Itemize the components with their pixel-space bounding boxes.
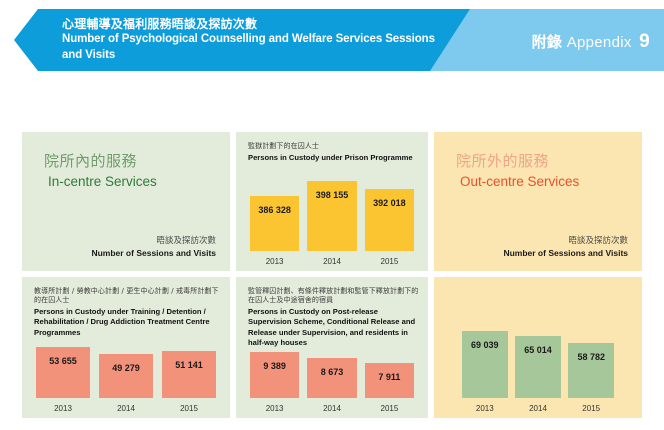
bar-2014: 8 673 xyxy=(307,358,356,398)
bar-column: 9 389 xyxy=(250,347,299,398)
in-centre-subtitle: 晤談及探訪次數 Number of Sessions and Visits xyxy=(91,236,216,259)
prison-programme-bar-chart: 386 328 398 155 392 018 2013 2014 2015 xyxy=(236,132,428,271)
panel-out-centre-services: 院所外的服務 Out-centre Services 晤談及探訪次數 Numbe… xyxy=(434,132,642,271)
x-axis-label-2015: 2015 xyxy=(365,404,414,413)
bar-value-2014: 398 155 xyxy=(316,190,349,200)
appendix-label: 附錄 Appendix 9 xyxy=(532,31,650,53)
panel-in-centre-services: 院所內的服務 In-centre Services 晤談及探訪次數 Number… xyxy=(22,132,230,271)
bar-value-2015: 58 782 xyxy=(577,352,605,362)
bar-2013: 9 389 xyxy=(250,352,299,398)
x-axis-label-2013: 2013 xyxy=(36,404,90,413)
in-centre-heading: 院所內的服務 In-centre Services xyxy=(44,152,157,191)
x-axis-label-2013: 2013 xyxy=(250,257,299,266)
bar-column: 398 155 xyxy=(307,174,356,251)
bar-value-2013: 9 389 xyxy=(263,361,286,371)
bar-2013: 386 328 xyxy=(250,196,299,251)
out-centre-subtitle: 晤談及探訪次數 Number of Sessions and Visits xyxy=(503,236,628,259)
out-centre-title-en: Out-centre Services xyxy=(460,174,579,191)
appendix-label-zh: 附錄 xyxy=(532,33,563,51)
appendix-number: 9 xyxy=(639,31,650,52)
bar-column: 392 018 xyxy=(365,174,414,251)
bar-value-2013: 53 655 xyxy=(49,356,77,366)
panel-post-release-supervision-chart: 監管釋囚計劃、有條件釋放計劃和監管下釋放計劃下的在囚人士及中途宿舍的宿員 Per… xyxy=(236,277,428,418)
bar-2015: 7 911 xyxy=(365,363,414,398)
bar-value-2015: 392 018 xyxy=(373,198,406,208)
page-title-zh: 心理輔導及福利服務晤談及探訪次數 xyxy=(62,17,482,31)
bar-column: 7 911 xyxy=(365,347,414,398)
bar-2015: 58 782 xyxy=(568,343,614,398)
in-centre-subtitle-en: Number of Sessions and Visits xyxy=(91,248,216,259)
bar-2015: 392 018 xyxy=(365,189,414,251)
bar-column: 386 328 xyxy=(250,174,299,251)
x-axis-label-2015: 2015 xyxy=(162,404,216,413)
appendix-content-grid: 院所內的服務 In-centre Services 晤談及探訪次數 Number… xyxy=(22,132,642,418)
x-axis-label-2015: 2015 xyxy=(568,404,614,413)
in-centre-title-en: In-centre Services xyxy=(48,174,157,191)
panel-training-detention-chart: 教導所計劃 / 勞教中心計劃 / 更生中心計劃 / 戒毒所計劃下的在囚人士 Pe… xyxy=(22,277,230,418)
bar-2014: 49 279 xyxy=(99,354,153,398)
bar-2015: 51 141 xyxy=(162,351,216,398)
appendix-label-en: Appendix xyxy=(567,34,632,51)
x-axis-label-2015: 2015 xyxy=(365,257,414,266)
bar-value-2014: 65 014 xyxy=(524,345,552,355)
x-axis-label-2013: 2013 xyxy=(250,404,299,413)
bar-value-2015: 51 141 xyxy=(175,360,203,370)
x-axis-label-2014: 2014 xyxy=(99,404,153,413)
bar-column: 58 782 xyxy=(568,325,614,398)
out-centre-title-zh: 院所外的服務 xyxy=(456,152,579,171)
page-title: 心理輔導及福利服務晤談及探訪次數 Number of Psychological… xyxy=(62,17,482,62)
out-centre-bar-chart: 69 039 65 014 58 782 2013 2014 2015 xyxy=(434,277,642,418)
bar-value-2013: 69 039 xyxy=(471,340,499,350)
panel-prison-programme-chart: 監獄計劃下的在囚人士 Persons in Custody under Pris… xyxy=(236,132,428,271)
page-title-en-line1: Number of Psychological Counselling and … xyxy=(62,33,482,47)
page-header: 心理輔導及福利服務晤談及探訪次數 Number of Psychological… xyxy=(0,9,664,71)
x-axis-label-2014: 2014 xyxy=(307,404,356,413)
in-centre-subtitle-zh: 晤談及探訪次數 xyxy=(91,236,216,247)
x-axis-label-2014: 2014 xyxy=(307,257,356,266)
page-title-en-line2: and Visits xyxy=(62,49,482,63)
bar-value-2014: 49 279 xyxy=(112,363,140,373)
bar-2014: 65 014 xyxy=(515,336,561,398)
out-centre-subtitle-en: Number of Sessions and Visits xyxy=(503,248,628,259)
bar-column: 51 141 xyxy=(162,343,216,398)
post-release-bar-chart: 9 389 8 673 7 911 2013 2014 2015 xyxy=(236,277,428,418)
bar-2013: 69 039 xyxy=(462,331,508,398)
in-centre-title-zh: 院所內的服務 xyxy=(44,152,157,171)
x-axis-label-2013: 2013 xyxy=(462,404,508,413)
out-centre-subtitle-zh: 晤談及探訪次數 xyxy=(503,236,628,247)
bar-column: 8 673 xyxy=(307,347,356,398)
out-centre-heading: 院所外的服務 Out-centre Services xyxy=(456,152,579,191)
panel-out-centre-sessions-chart: 69 039 65 014 58 782 2013 2014 2015 xyxy=(434,277,642,418)
bar-value-2013: 386 328 xyxy=(258,205,291,215)
bar-value-2015: 7 911 xyxy=(378,372,400,382)
training-detention-bar-chart: 53 655 49 279 51 141 2013 2014 2015 xyxy=(22,277,230,418)
bar-column: 69 039 xyxy=(462,325,508,398)
bar-2013: 53 655 xyxy=(36,347,90,398)
bar-2014: 398 155 xyxy=(307,181,356,251)
bar-column: 65 014 xyxy=(515,325,561,398)
bar-column: 49 279 xyxy=(99,343,153,398)
x-axis-label-2014: 2014 xyxy=(515,404,561,413)
bar-value-2014: 8 673 xyxy=(321,367,344,377)
bar-column: 53 655 xyxy=(36,343,90,398)
